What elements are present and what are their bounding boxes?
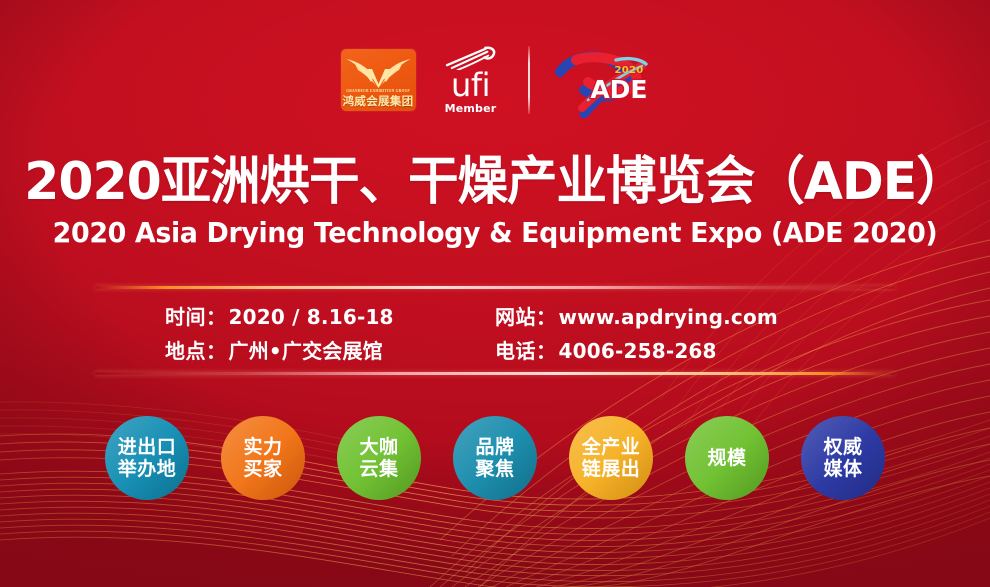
ufi-wordmark: ufi xyxy=(451,70,490,100)
info-value-date: 2020 / 8.16-18 xyxy=(229,300,394,334)
badge-authoritative-media: 权威 媒体 xyxy=(801,416,885,500)
event-info-right-column: 网站： www.apdrying.com 电话： 4006-258-268 xyxy=(495,296,825,370)
logo-vertical-divider xyxy=(528,46,530,114)
badge-line-1: 权威 xyxy=(823,436,862,458)
badge-brand-focus: 品牌 聚焦 xyxy=(453,416,537,500)
ade-expo-logo: 2020 ADE xyxy=(554,42,650,118)
ufi-member-logo: ufi Member xyxy=(438,45,504,115)
divider-rule-bottom xyxy=(95,372,895,375)
info-label-venue: 地点： xyxy=(165,334,227,368)
grandeur-logo-english: GRANDEUR EXHIBITION GROUP xyxy=(346,89,410,94)
info-value-venue: 广州•广交会展馆 xyxy=(229,334,383,368)
info-row-venue: 地点： 广州•广交会展馆 xyxy=(165,334,495,368)
info-label-website: 网站： xyxy=(495,300,557,334)
logo-strip: GRANDEUR EXHIBITION GROUP 鸿威会展集团 ufi Mem… xyxy=(0,40,990,120)
wing-w-icon xyxy=(341,55,416,89)
badge-line-1: 进出口 xyxy=(118,436,177,458)
info-value-website[interactable]: www.apdrying.com xyxy=(559,300,778,334)
highlight-badge-row: 进出口 举办地 实力 买家 大咖 云集 品牌 聚焦 全产业 链展出 规模 权威 … xyxy=(0,412,990,504)
info-row-phone: 电话： 4006-258-268 xyxy=(495,334,825,368)
badge-line-2: 云集 xyxy=(359,458,398,480)
badge-line-1: 全产业 xyxy=(582,436,641,458)
badge-line-2: 链展出 xyxy=(582,458,641,480)
info-row-website: 网站： www.apdrying.com xyxy=(495,300,825,334)
badge-line-2: 媒体 xyxy=(823,458,862,480)
info-label-phone: 电话： xyxy=(495,334,557,368)
poster-title-chinese: 2020亚洲烘干、干燥产业博览会（ADE） xyxy=(15,152,975,212)
badge-full-industry-chain: 全产业 链展出 xyxy=(569,416,653,500)
grandeur-exhibition-group-logo: GRANDEUR EXHIBITION GROUP 鸿威会展集团 xyxy=(341,49,416,111)
grandeur-logo-chinese: 鸿威会展集团 xyxy=(343,94,414,108)
badge-line-1: 品牌 xyxy=(475,436,514,458)
info-row-date: 时间： 2020 / 8.16-18 xyxy=(165,300,495,334)
info-value-phone: 4006-258-268 xyxy=(559,334,717,368)
ufi-member-label: Member xyxy=(445,102,497,115)
event-info-block: 时间： 2020 / 8.16-18 地点： 广州•广交会展馆 网站： www.… xyxy=(0,296,990,370)
badge-line-2: 举办地 xyxy=(118,458,177,480)
event-info-left-column: 时间： 2020 / 8.16-18 地点： 广州•广交会展馆 xyxy=(165,296,495,370)
badge-line-2: 买家 xyxy=(243,458,282,480)
badge-experts-gathering: 大咖 云集 xyxy=(337,416,421,500)
poster-title-english: 2020 Asia Drying Technology & Equipment … xyxy=(20,213,970,253)
badge-scale: 规模 xyxy=(685,416,769,500)
divider-rule-top xyxy=(95,286,895,289)
badge-line-2: 聚焦 xyxy=(475,458,514,480)
badge-line-1: 大咖 xyxy=(359,436,398,458)
info-label-date: 时间： xyxy=(165,300,227,334)
badge-line-1: 规模 xyxy=(707,447,746,469)
ade-logo-wordmark: ADE xyxy=(590,75,647,104)
expo-poster: GRANDEUR EXHIBITION GROUP 鸿威会展集团 ufi Mem… xyxy=(0,0,990,587)
badge-line-1: 实力 xyxy=(243,436,282,458)
badge-strong-buyers: 实力 买家 xyxy=(221,416,305,500)
badge-import-export-venue: 进出口 举办地 xyxy=(105,416,189,500)
